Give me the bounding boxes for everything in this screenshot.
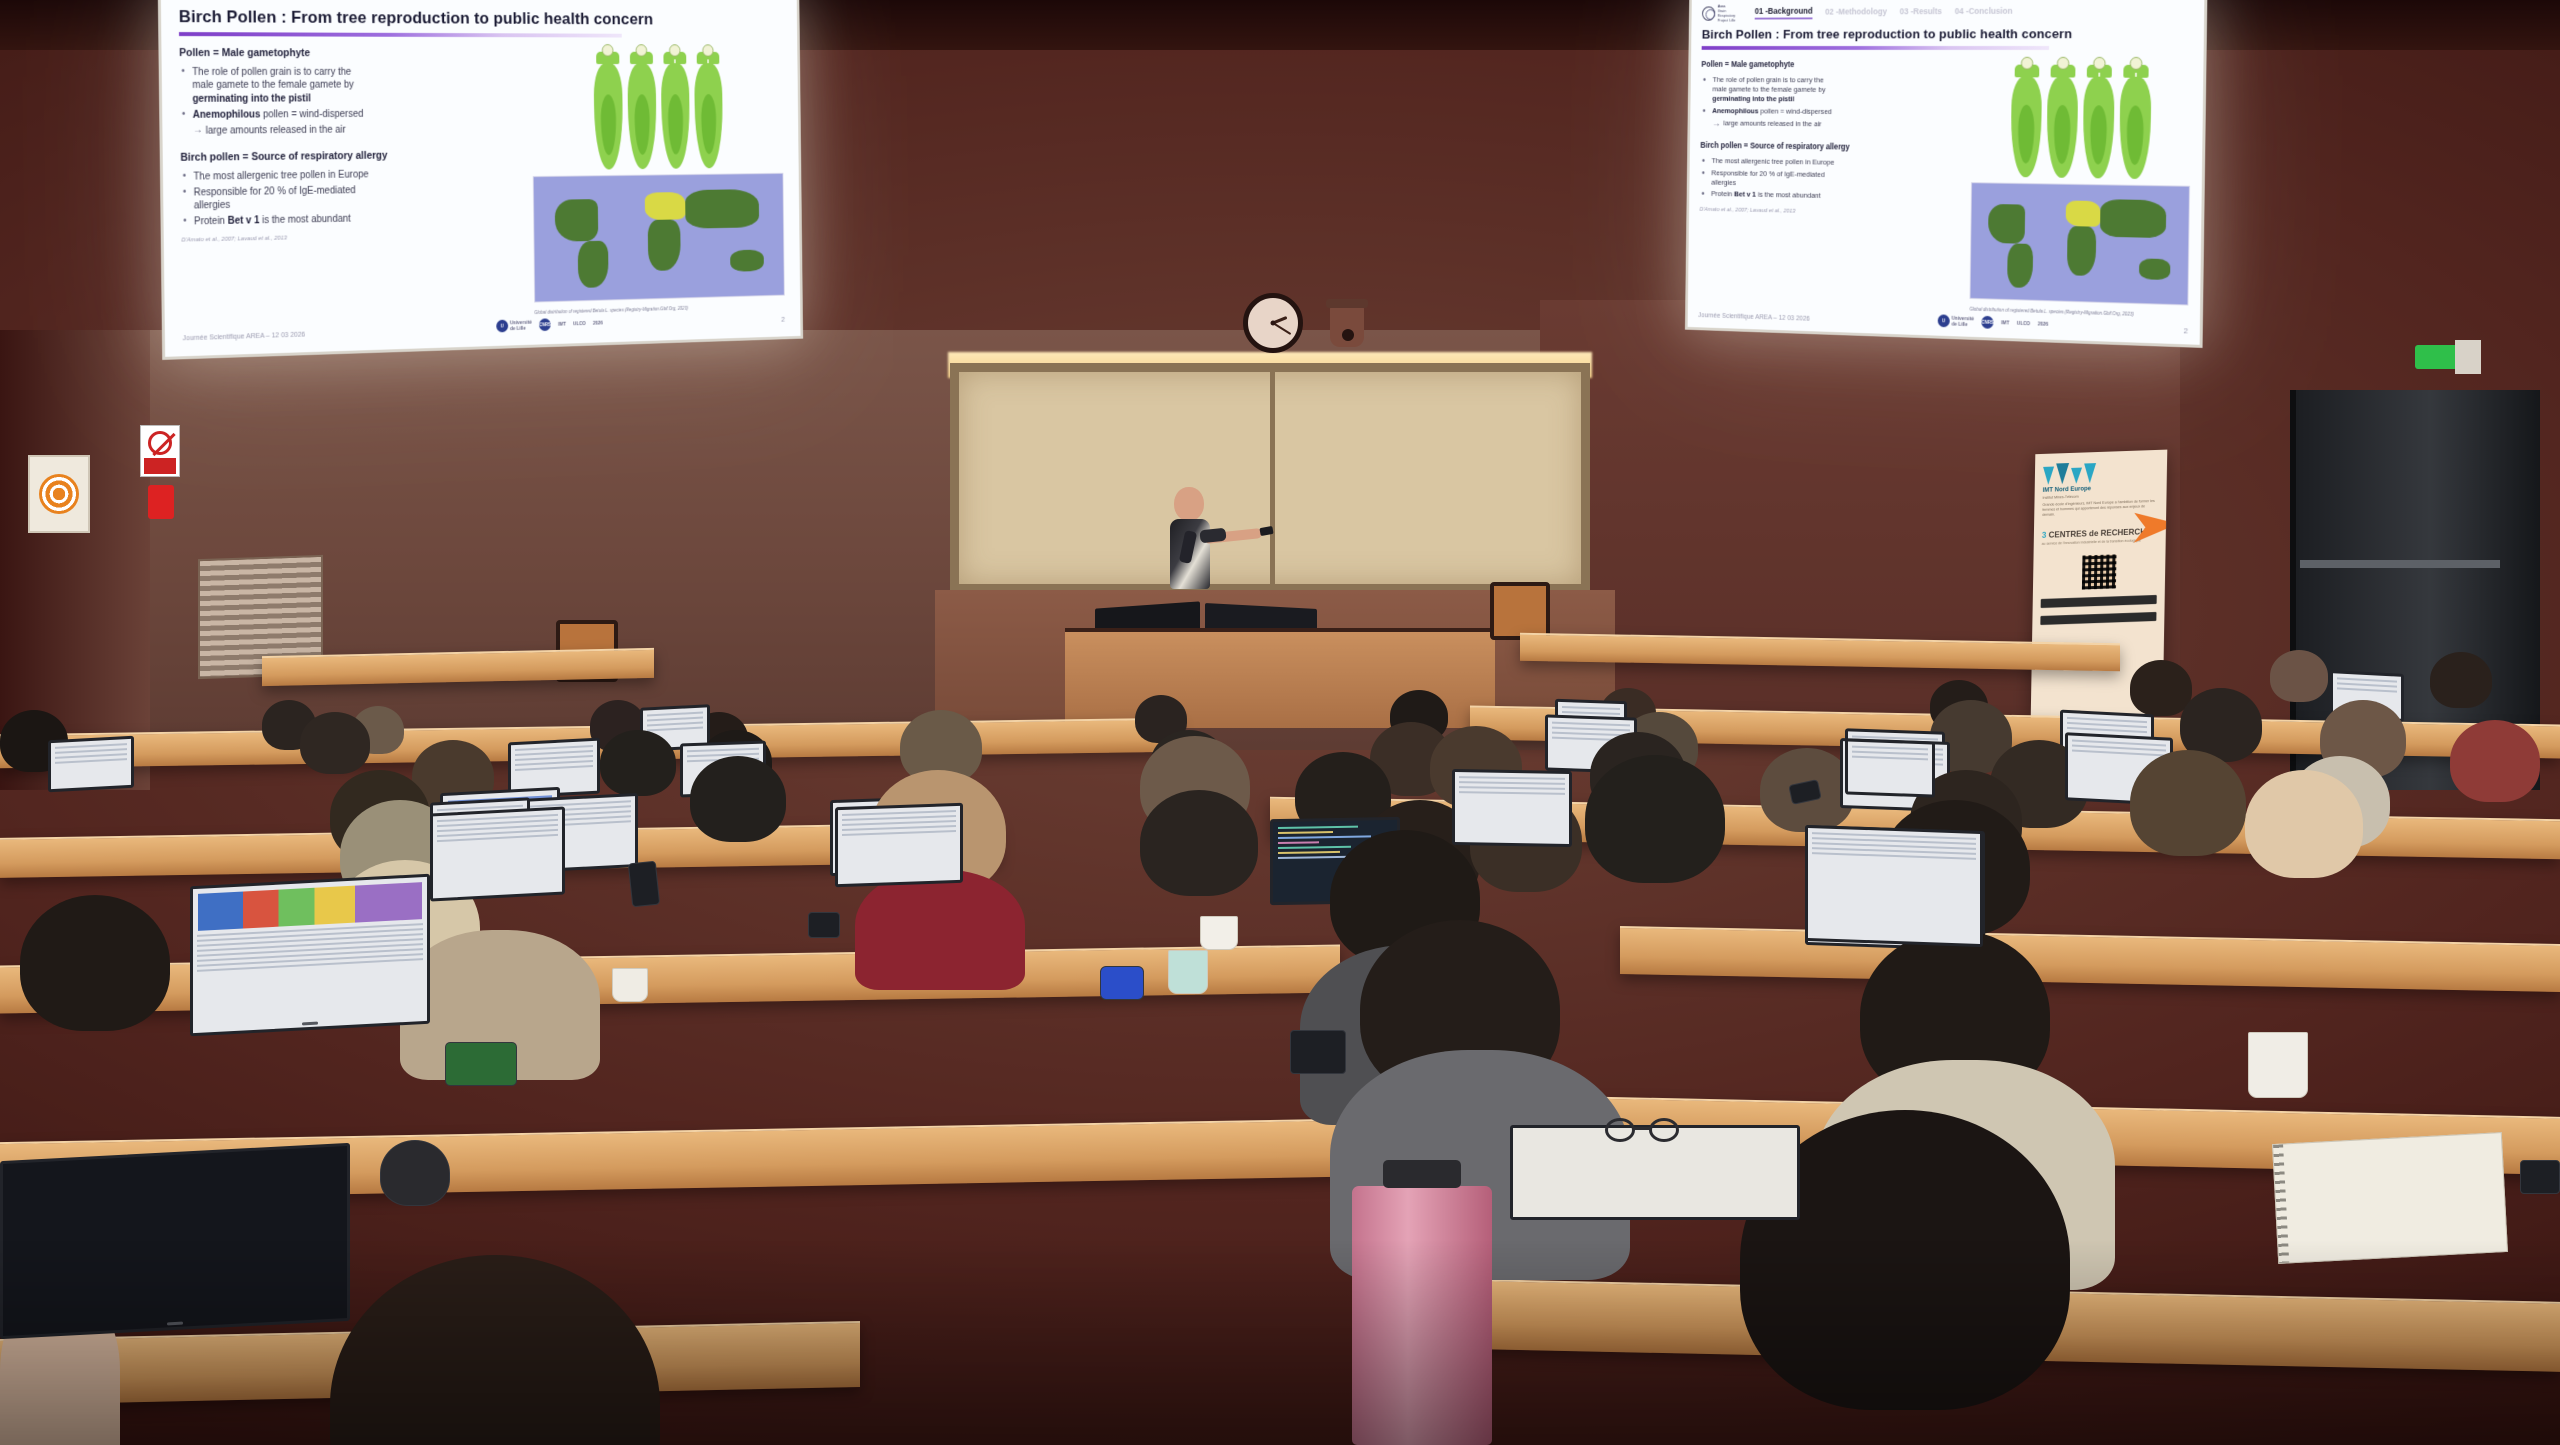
laptop-brand-badge [302, 1022, 318, 1026]
logo-ring-icon [1702, 6, 1715, 20]
smartphone[interactable] [1100, 966, 1144, 1000]
imt-logo-icon [2043, 459, 2159, 485]
whiteboard-divider [1270, 372, 1275, 584]
whiteboard [950, 363, 1590, 593]
logo-mark: CNRS [1981, 316, 1993, 329]
lecture-hall-scene: Birch Pollen : From tree reproduction to… [0, 0, 2560, 1445]
glasses-bridge [1634, 1127, 1650, 1130]
eyeglasses[interactable] [1605, 1118, 1679, 1144]
presenter-sleeve [1199, 528, 1226, 544]
laptop[interactable] [835, 803, 963, 887]
fire-alarm-call-point[interactable] [148, 485, 174, 519]
list-item: The role of pollen grain is to carry the… [1701, 75, 1963, 106]
projection-screen-left: Birch Pollen : From tree reproduction to… [158, 0, 803, 360]
slide-title-right: Birch Pollen : From tree reproduction to… [1702, 26, 2192, 41]
pollen-grain-icon [694, 52, 725, 169]
attendee [2450, 720, 2540, 802]
list-item: Protein Bet v 1 is the most abundant [181, 210, 524, 229]
signal-ripple-icon [39, 474, 79, 514]
slide-bullets-2: The most allergenic tree pollen in Europ… [181, 167, 524, 230]
pollen-grain-icon [2045, 65, 2079, 178]
attendee [2130, 750, 2246, 856]
screen-content [1852, 746, 1928, 791]
attendee [600, 730, 676, 796]
laptop[interactable] [1845, 738, 1935, 797]
slide-page-number: 2 [2184, 326, 2188, 335]
laptop[interactable] [430, 806, 565, 901]
laptop[interactable] [1452, 769, 1572, 847]
slide-footer-text: Journée Scientifique AREA – 12 03 2026 [183, 332, 306, 343]
slide-media-column: Global distribution of registered Betula… [1970, 61, 2192, 319]
list-item: large amounts released in the air [180, 122, 523, 138]
clock-minute-hand [1272, 322, 1291, 335]
clock-center-pin [1271, 321, 1276, 326]
no-phone-sign [140, 425, 180, 477]
projection-screen-right: Area Grain Respiratory Project Lille 01 … [1685, 0, 2208, 348]
bullet-bold-2: Anemophilous [193, 109, 261, 120]
partner-logo-strip: UUniversitéde Lille CNRS IMT ULCO 2026 [1938, 314, 2049, 330]
attendee [2270, 650, 2328, 702]
smartphone[interactable] [1290, 1030, 1346, 1074]
slide-citation: D'Amato et al., 2007; Lavaud et al., 201… [181, 230, 524, 243]
screen-content [1459, 776, 1565, 840]
prohibition-icon [148, 431, 172, 455]
attendee [2130, 660, 2192, 716]
paper-cup[interactable] [612, 968, 648, 1002]
title-underline [1702, 46, 2049, 50]
slide-footer-text: Journée Scientifique AREA – 12 03 2026 [1698, 312, 1810, 322]
title-underline [179, 32, 622, 37]
logo-universite-lille: UUniversitéde Lille [496, 319, 532, 333]
pollen-grain-icon [593, 52, 625, 170]
foreground-vignette [0, 1240, 2560, 1445]
screen-content [515, 745, 593, 791]
laptop[interactable] [1805, 825, 1983, 947]
ceiling-camera [1330, 305, 1364, 347]
laptop-screen [835, 803, 963, 887]
logo-line-2: Grain Respiratory [1717, 8, 1735, 17]
world-distribution-map [1970, 182, 2190, 306]
logo-ulco: ULCO [573, 321, 586, 327]
list-item: Responsible for 20 % of IgE-mediatedalle… [1700, 168, 1962, 192]
slide-bullets-2: The most allergenic tree pollen in Europ… [1700, 156, 1963, 204]
logo-year: 2026 [2038, 321, 2049, 327]
logo-imt: IMT [2001, 320, 2009, 326]
slide-page-number: 2 [781, 315, 785, 323]
bottle-cap[interactable] [1383, 1160, 1461, 1188]
smartphone[interactable] [445, 1042, 517, 1086]
attendee [690, 756, 786, 842]
list-item: Anemophilous pollen = wind-dispersed [1701, 106, 1963, 118]
attendee [20, 895, 170, 1031]
list-item: The most allergenic tree pollen in Europ… [181, 167, 524, 184]
screen-content [437, 814, 558, 894]
list-item: Protein Bet v 1 is the most abundant [1700, 189, 1962, 204]
paper-cup[interactable] [2248, 1032, 2308, 1098]
paper-cup[interactable] [1168, 950, 1208, 994]
wall-clock [1243, 293, 1303, 353]
pollen-germination-diagram [1971, 61, 2191, 180]
logo-mark: CNRS [539, 318, 551, 331]
slide-right: Area Grain Respiratory Project Lille 01 … [1688, 0, 2205, 345]
slide-body-right: Pollen = Male gametophyte The role of po… [1698, 60, 2191, 318]
slide-left: Birch Pollen : From tree reproduction to… [161, 0, 801, 357]
logo-cnrs: CNRS [1981, 316, 1993, 329]
slide-title-left: Birch Pollen : From tree reproduction to… [179, 7, 782, 30]
slide-text-column: Pollen = Male gametophyte The role of po… [179, 47, 525, 325]
nav-tab-results[interactable]: 03 -Results [1900, 6, 1942, 18]
banner-chip [2041, 595, 2157, 608]
laptop[interactable] [190, 874, 430, 1037]
smartphone[interactable] [628, 861, 660, 908]
lens-left [1605, 1118, 1635, 1142]
stage-chair-right[interactable] [1490, 582, 1550, 640]
logo-mark: U [1938, 314, 1950, 327]
pollen-grain-icon [660, 52, 691, 169]
sign-red-bar [144, 458, 176, 474]
bullet-bold-1: germinating into the pistil [192, 93, 310, 104]
slide-nav-bar: Area Grain Respiratory Project Lille 01 … [1702, 0, 2193, 23]
pollen-germination-diagram [531, 48, 783, 171]
logo-mark: U [496, 320, 508, 333]
attendee [2430, 652, 2492, 708]
nav-tab-methodology[interactable]: 02 -Methodology [1825, 7, 1887, 19]
slide-lead-2: Birch pollen = Source of respiratory all… [1700, 141, 1962, 153]
nav-tab-conclusion[interactable]: 04 -Conclusion [1955, 6, 2013, 18]
slide-lead-2: Birch pollen = Source of respiratory all… [180, 148, 523, 163]
world-distribution-map [533, 173, 785, 302]
logo-cnrs: CNRS [539, 318, 551, 331]
paper-cup[interactable] [1200, 916, 1238, 950]
attendee-torso [855, 870, 1025, 990]
laptop-screen [430, 806, 565, 901]
slide-body-left: Pollen = Male gametophyte The role of po… [179, 47, 785, 325]
logo-year: 2026 [593, 320, 603, 326]
screen-content [197, 923, 423, 1029]
laptop-screen [1452, 769, 1572, 847]
lens-right [1649, 1118, 1679, 1142]
slide-bullets-1: The role of pollen grain is to carry the… [179, 66, 523, 138]
pollen-grain-icon [2118, 65, 2152, 179]
partner-logo-strip: UUniversitéde Lille CNRS IMT ULCO 2026 [496, 317, 603, 333]
screen-content [55, 743, 127, 785]
presenter-head [1174, 487, 1204, 521]
list-item: The role of pollen grain is to carry the… [179, 66, 522, 106]
emergency-box [2455, 340, 2481, 374]
slide-lead-1: Pollen = Male gametophyte [1701, 60, 1963, 69]
zone-coverage-sign [28, 455, 90, 533]
laptop[interactable] [48, 736, 134, 793]
list-item: large amounts released in the air [1701, 118, 1963, 130]
attendee [2245, 770, 2363, 878]
door-push-bar[interactable] [2300, 560, 2500, 568]
screen-content [842, 810, 956, 880]
computer-mouse[interactable] [380, 1140, 450, 1206]
slide-citation: D'Amato et al., 2007; Lavaud et al., 201… [1700, 207, 1962, 218]
smartphone[interactable] [808, 912, 840, 938]
banner-chip [2040, 612, 2156, 625]
area-logo: Area Grain Respiratory Project Lille [1702, 4, 1743, 21]
logo-imt: IMT [558, 321, 566, 327]
pollen-grain-icon [2081, 65, 2115, 179]
bullet-bold-2: Anemophilous [1712, 106, 1758, 115]
banner-headline-number: 3 [2042, 531, 2047, 540]
nav-tab-background[interactable]: 01 -Background [1755, 6, 1813, 20]
bullet-bold-3: Bet v 1 [228, 215, 260, 226]
qr-code[interactable] [2082, 555, 2117, 590]
attendee [1585, 755, 1725, 883]
slide-text-column: Pollen = Male gametophyte The role of po… [1698, 60, 1963, 311]
attendee [1140, 790, 1258, 896]
bullet-bold-1: germinating into the pistil [1712, 94, 1794, 103]
list-item: Responsible for 20 % of IgE-mediatedalle… [181, 182, 524, 213]
logo-line-3: Project Lille [1717, 18, 1735, 23]
slide-media-column: Global distribution of registered Betula… [531, 48, 785, 315]
laptop-screen [48, 736, 134, 793]
laptop-screen [190, 874, 430, 1037]
pollen-grain-icon [2009, 65, 2043, 178]
laptop-screen [1805, 825, 1983, 947]
pollen-grain-icon [627, 52, 658, 170]
list-item: Anemophilous pollen = wind-dispersed [180, 107, 523, 122]
slide-bullets-1: The role of pollen grain is to carry the… [1701, 75, 1964, 130]
slide-lead-1: Pollen = Male gametophyte [179, 47, 522, 59]
logo-universite-lille: UUniversitéde Lille [1938, 314, 1975, 328]
smartphone[interactable] [2520, 1160, 2560, 1194]
screen-content [1812, 832, 1976, 940]
list-item: The most allergenic tree pollen in Europ… [1700, 156, 1962, 169]
attendee [300, 712, 370, 774]
logo-label: Area Grain Respiratory Project Lille [1717, 4, 1742, 23]
logo-ulco: ULCO [2017, 320, 2030, 326]
laptop-screen [1845, 738, 1935, 797]
bullet-bold-3: Bet v 1 [1734, 190, 1756, 199]
